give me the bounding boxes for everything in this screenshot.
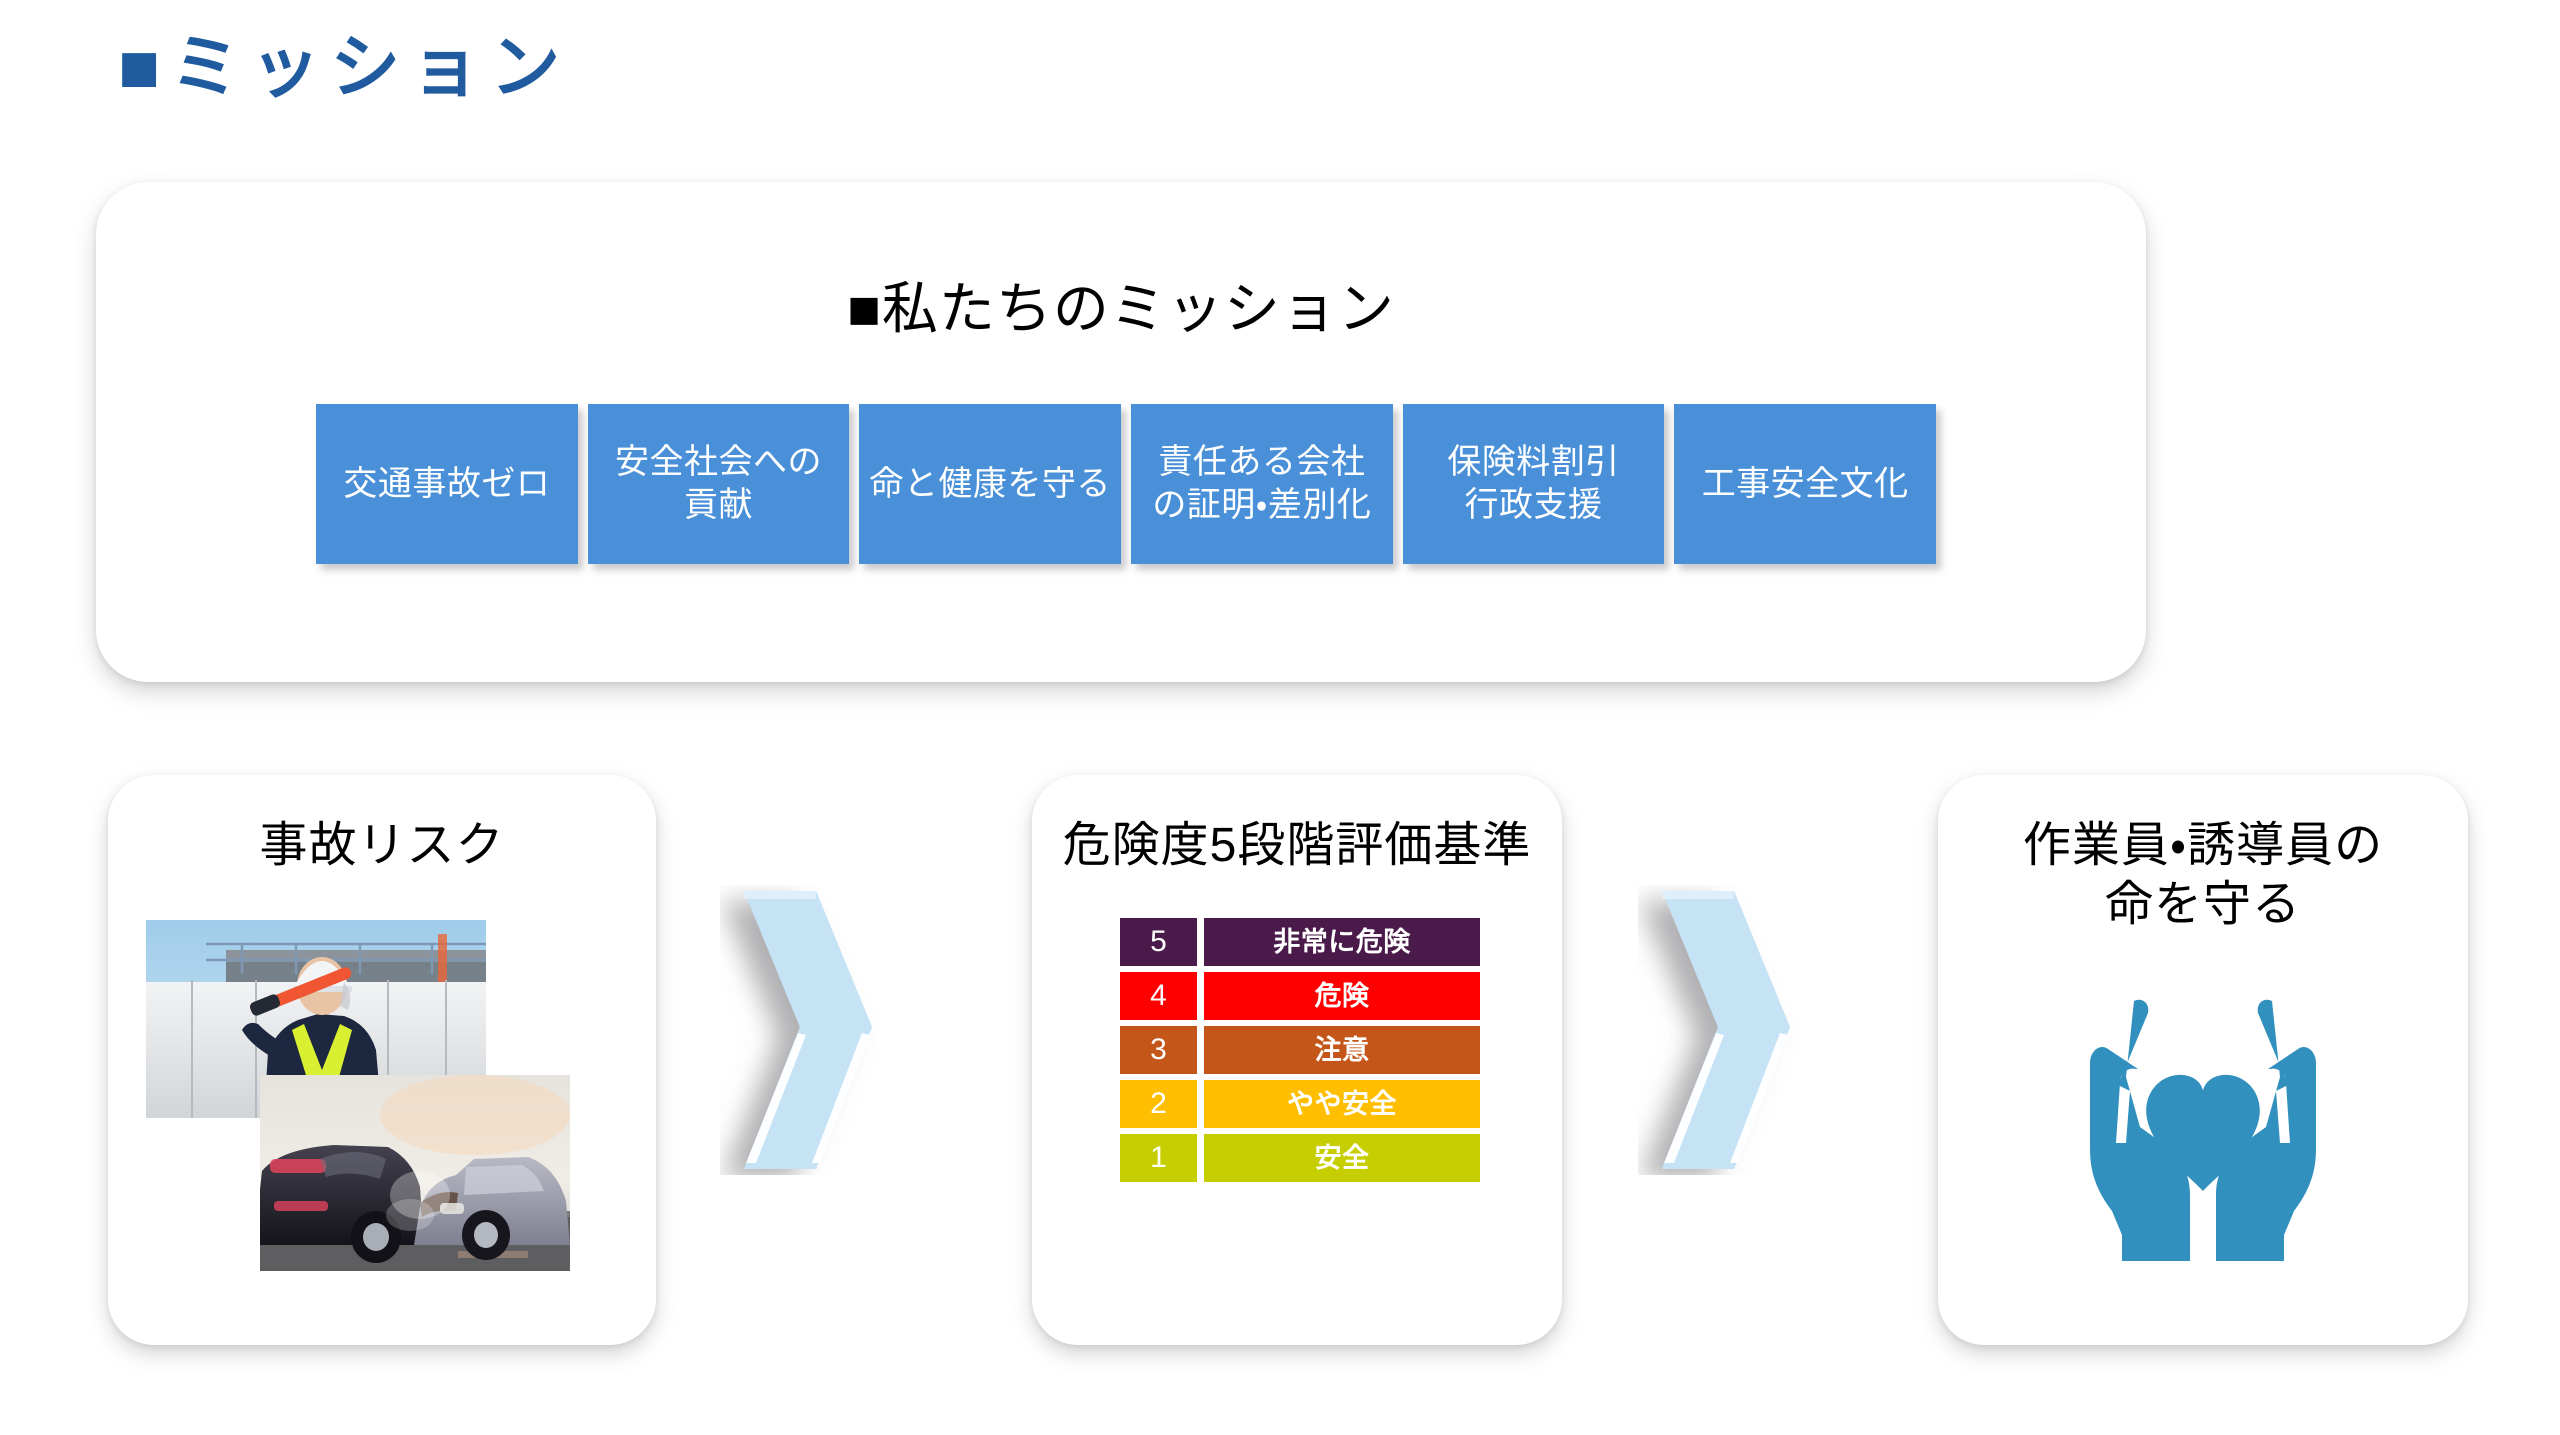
mission-pill-1-label: 交通事故ゼロ: [343, 463, 550, 506]
mission-pill-4[interactable]: 責任ある会社 の証明・差別化: [1131, 404, 1393, 564]
mission-pill-5-label: 保険料割引 行政支援: [1447, 441, 1620, 527]
mission-pill-2-label: 安全社会への 貢献: [615, 441, 822, 527]
risk-label-4: 危険: [1204, 972, 1480, 1020]
car-collision-photo: [260, 1075, 570, 1271]
mission-pill-1[interactable]: 交通事故ゼロ: [316, 404, 578, 564]
accident-risk-heading: 事故リスク: [108, 817, 656, 876]
risk-label-2: やや安全: [1204, 1080, 1480, 1128]
page-title: ■ミッション: [118, 32, 570, 102]
flow-card-protect-lives: 作業員・誘導員の 命を守る: [1938, 775, 2468, 1345]
risk-table-heading: 危険度5段階評価基準: [1032, 817, 1562, 876]
flow-card-risk-table: 危険度5段階評価基準 5 非常に危険 4 危険 3 注意 2 やや安全: [1032, 775, 1562, 1345]
mission-pill-2-line1: 安全社会への: [615, 443, 822, 481]
risk-level-2: 2: [1120, 1080, 1197, 1128]
risk-level-table: 5 非常に危険 4 危険 3 注意 2 やや安全 1 安全: [1120, 918, 1480, 1182]
risk-level-3: 3: [1120, 1026, 1197, 1074]
protect-lives-heading-line2: 命を守る: [2105, 878, 2301, 931]
mission-pill-3[interactable]: 命と健康を守る: [859, 404, 1121, 564]
table-row[interactable]: 2 やや安全: [1120, 1080, 1480, 1128]
risk-level-1: 1: [1120, 1134, 1197, 1182]
mission-card: ■私たちのミッション 交通事故ゼロ 安全社会への 貢献 命と健康を守る 責任ある…: [96, 182, 2146, 682]
risk-label-5: 非常に危険: [1204, 918, 1480, 966]
mission-pill-4-line1: 責任ある会社: [1158, 443, 1365, 481]
mission-pill-2[interactable]: 安全社会への 貢献: [588, 404, 850, 564]
mission-pill-row: 交通事故ゼロ 安全社会への 貢献 命と健康を守る 責任ある会社 の証明・差別化: [316, 404, 1936, 564]
flow-arrow-1-icon: [720, 885, 920, 1175]
mission-pill-5[interactable]: 保険料割引 行政支援: [1403, 404, 1665, 564]
mission-pill-6[interactable]: 工事安全文化: [1674, 404, 1936, 564]
table-row[interactable]: 3 注意: [1120, 1026, 1480, 1074]
heart-in-hands-icon: [2038, 973, 2368, 1273]
mission-pill-5-line1: 保険料割引: [1447, 443, 1620, 481]
risk-level-5: 5: [1120, 918, 1197, 966]
protect-lives-heading-line1: 作業員・誘導員の: [2023, 819, 2383, 872]
mission-pill-4-line2: の証明・差別化: [1152, 486, 1371, 524]
risk-level-4: 4: [1120, 972, 1197, 1020]
mission-pill-5-line2: 行政支援: [1465, 486, 1603, 524]
table-row[interactable]: 4 危険: [1120, 972, 1480, 1020]
table-row[interactable]: 1 安全: [1120, 1134, 1480, 1182]
flow-row: 事故リスク: [0, 775, 2560, 1355]
flow-card-accident-risk: 事故リスク: [108, 775, 656, 1345]
mission-pill-3-label: 命と健康を守る: [869, 463, 1111, 506]
flow-arrow-2-icon: [1638, 885, 1838, 1175]
mission-pill-6-label: 工事安全文化: [1702, 463, 1909, 506]
risk-label-3: 注意: [1204, 1026, 1480, 1074]
mission-pill-4-label: 責任ある会社 の証明・差別化: [1152, 441, 1371, 527]
protect-lives-heading: 作業員・誘導員の 命を守る: [1938, 817, 2468, 934]
mission-pill-2-line2: 貢献: [684, 486, 753, 524]
risk-label-1: 安全: [1204, 1134, 1480, 1182]
table-row[interactable]: 5 非常に危険: [1120, 918, 1480, 966]
mission-heading: ■私たちのミッション: [96, 264, 2146, 345]
slide-canvas: ■ミッション ■私たちのミッション 交通事故ゼロ 安全社会への 貢献 命と健康を…: [0, 0, 2560, 1435]
